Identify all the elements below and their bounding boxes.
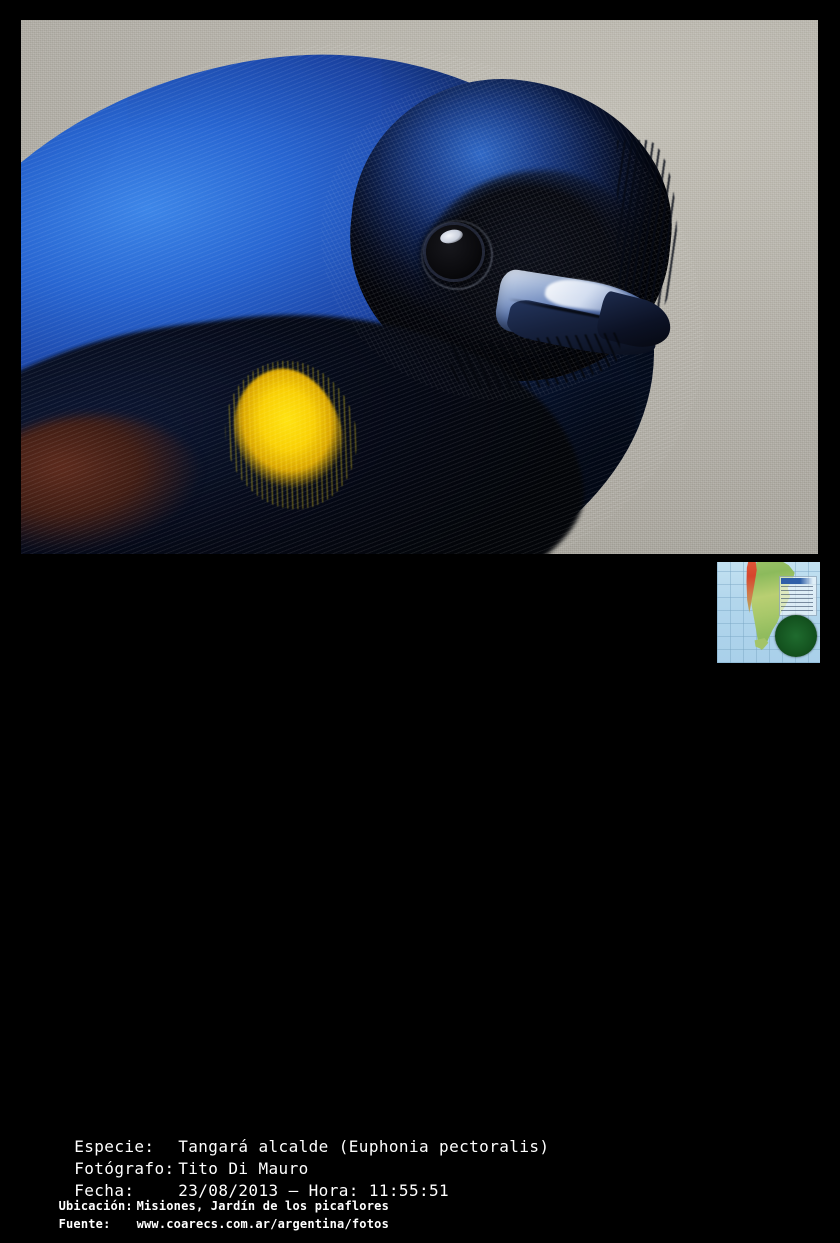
bird-photograph	[21, 20, 818, 554]
image-frame: Especie:Tangará alcalde (Euphonia pector…	[0, 0, 840, 669]
organization-logo	[775, 615, 817, 657]
caption-value-fuente: www.coarecs.com.ar/argentina/fotos	[137, 1218, 389, 1230]
distribution-map-thumbnail[interactable]	[717, 562, 820, 663]
caption-bar: Especie:Tangará alcalde (Euphonia pector…	[0, 556, 840, 669]
caption-row-fuente: Fuente:www.coarecs.com.ar/argentina/foto…	[14, 1206, 389, 1242]
map-legend-entries	[781, 586, 813, 612]
caption-label-fuente: Fuente:	[59, 1218, 137, 1230]
map-legend-title	[781, 578, 813, 584]
bird-contour-edge	[21, 55, 561, 125]
